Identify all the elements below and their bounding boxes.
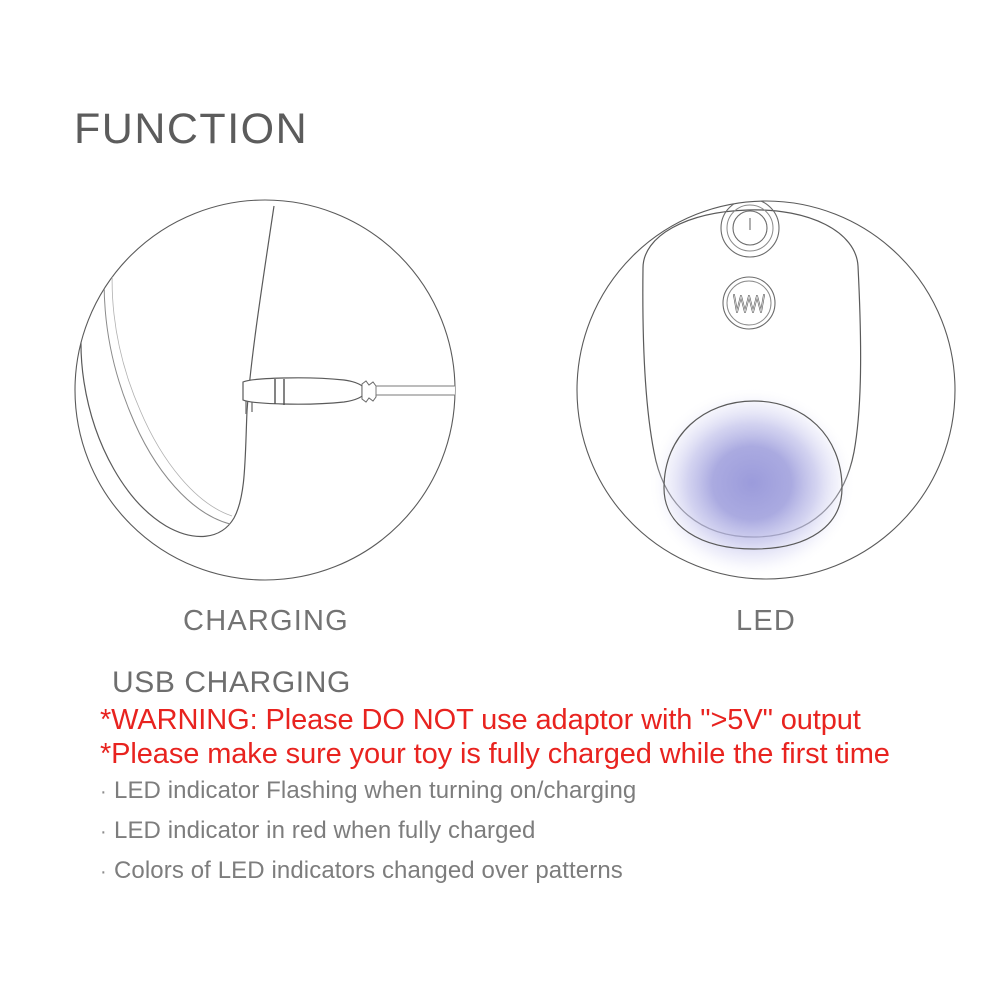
usb-charging-heading: USB CHARGING: [112, 666, 980, 701]
device-body-outline: [81, 206, 274, 536]
list-item-label: Colors of LED indicators changed over pa…: [114, 859, 623, 883]
led-behavior-list: · LED indicator Flashing when turning on…: [100, 779, 980, 883]
list-item: · Colors of LED indicators changed over …: [100, 859, 980, 883]
usb-connector-plug: [243, 378, 362, 404]
bullet-mark-icon: ·: [100, 862, 114, 882]
list-item: · LED indicator in red when fully charge…: [100, 819, 980, 843]
charging-cable: [376, 386, 458, 395]
instructions-text-block: USB CHARGING *WARNING: Please DO NOT use…: [100, 666, 980, 899]
list-item: · LED indicator Flashing when turning on…: [100, 779, 980, 803]
led-device-drawing: [643, 199, 861, 579]
warning-line-2: *Please make sure your toy is fully char…: [100, 737, 980, 771]
connector-strain-relief: [362, 381, 376, 402]
figure-led: [566, 196, 966, 596]
charging-device-drawing: [81, 206, 458, 536]
bullet-mark-icon: ·: [100, 782, 114, 802]
function-page: FUNCTION: [0, 0, 1000, 1000]
caption-led: LED: [566, 605, 966, 638]
caption-charging: CHARGING: [66, 605, 466, 638]
page-title: FUNCTION: [74, 108, 308, 151]
list-item-label: LED indicator in red when fully charged: [114, 819, 535, 843]
bullet-mark-icon: ·: [100, 822, 114, 842]
led-illustration: [566, 196, 966, 596]
list-item-label: LED indicator Flashing when turning on/c…: [114, 779, 636, 803]
led-glow-halo: [648, 387, 856, 579]
charging-illustration: [66, 196, 466, 596]
warning-line-1: *WARNING: Please DO NOT use adaptor with…: [100, 703, 980, 737]
figure-charging: [66, 196, 466, 596]
pattern-wave-button-icon: [723, 277, 775, 329]
device-body-highlight: [112, 226, 232, 516]
